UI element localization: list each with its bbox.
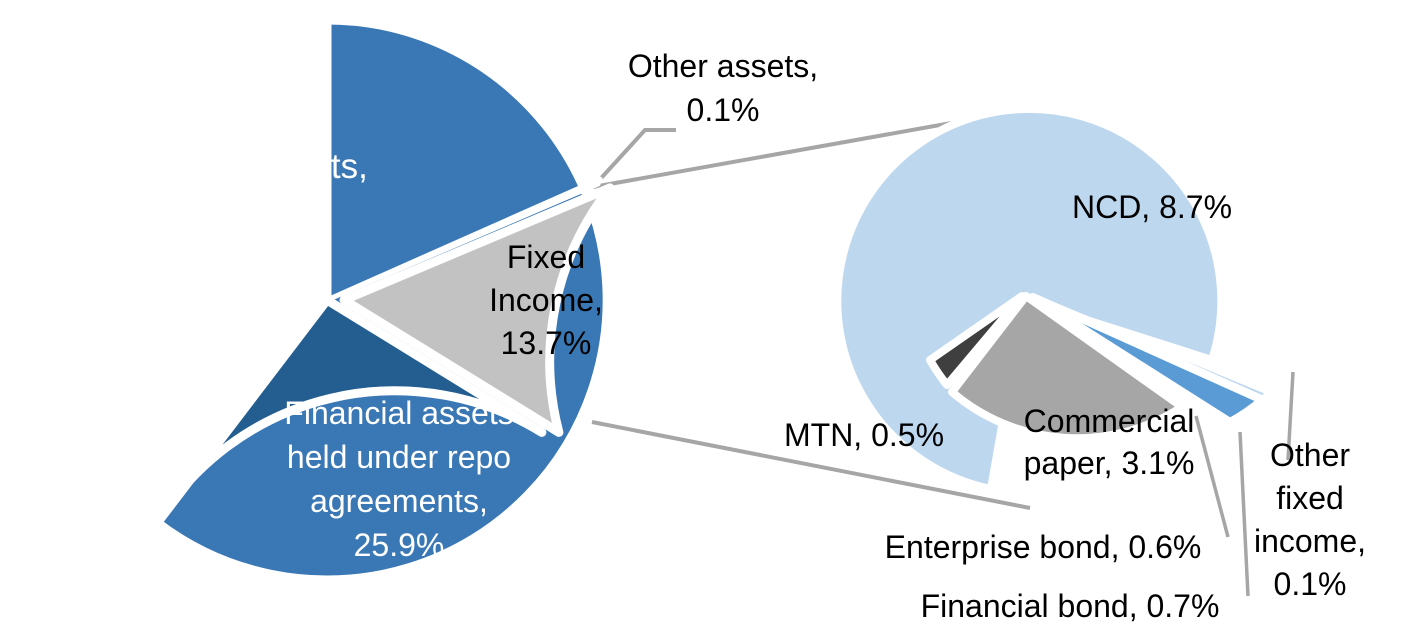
label-repo-line1: Financial assets — [284, 395, 513, 431]
label-other-fixed-income-line2: fixed — [1276, 480, 1344, 516]
label-fixed-income-value: 13.7% — [501, 325, 592, 361]
label-ncd: NCD, 8.7% — [1072, 189, 1232, 225]
label-financial-bond: Financial bond, 0.7% — [921, 588, 1220, 624]
label-other-fixed-income-line1: Other — [1270, 437, 1350, 473]
label-repo-value: 25.9% — [354, 527, 445, 563]
label-fixed-income-line2: Income, — [489, 282, 603, 318]
label-repo-line2: held under repo — [287, 439, 511, 475]
label-repo-line3: agreements, — [310, 483, 488, 519]
label-bank-deposits-name: Bank deposits, — [138, 147, 368, 186]
label-fixed-income-line1: Fixed — [507, 239, 585, 275]
pie-chart-figure: Bank deposits, 60.3% Financial assets he… — [0, 0, 1404, 644]
label-other-fixed-income-line3: income, — [1254, 523, 1366, 559]
label-commercial-paper-line2: paper, 3.1% — [1024, 445, 1195, 481]
label-bank-deposits-value: 60.3% — [203, 191, 302, 230]
label-commercial-paper-line1: Commercial — [1024, 403, 1195, 439]
label-other-fixed-income-line4: 0.1% — [1274, 566, 1347, 602]
label-enterprise-bond: Enterprise bond, 0.6% — [885, 529, 1202, 565]
label-other-assets-value: 0.1% — [687, 92, 760, 128]
label-mtn: MTN, 0.5% — [784, 417, 944, 453]
chart-canvas: Bank deposits, 60.3% Financial assets he… — [0, 0, 1404, 644]
label-other-assets-name: Other assets, — [628, 48, 818, 84]
